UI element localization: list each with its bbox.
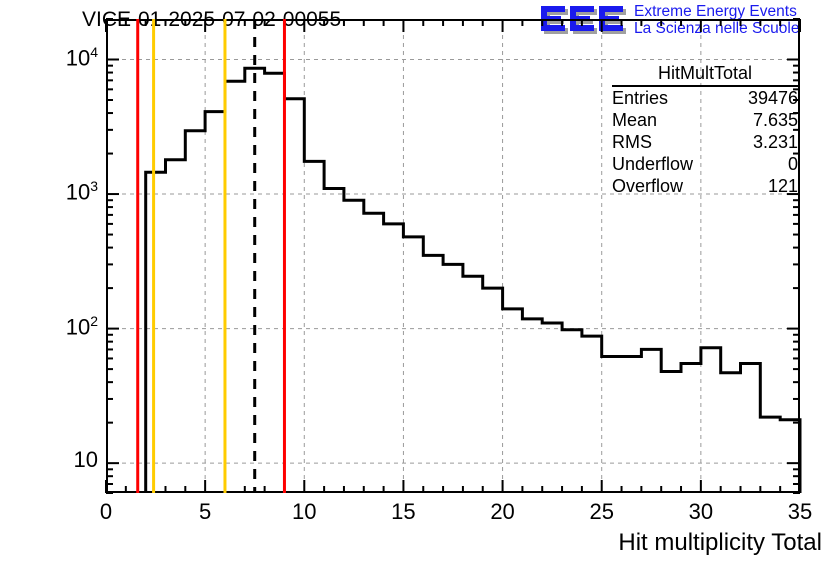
x-tick-label: 25 [589,499,613,525]
y-tick-label: 102 [66,313,98,340]
x-tick-label: 5 [199,499,211,525]
stats-row: RMS3.231 [612,131,798,153]
stats-row-value: 121 [768,175,798,197]
x-tick-label: 30 [689,499,713,525]
x-tick-label: 15 [391,499,415,525]
x-tick-label: 20 [490,499,514,525]
stats-row-value: 7.635 [753,109,798,131]
stats-row-key: Mean [612,109,657,131]
x-axis-title: Hit multiplicity Total [618,529,822,557]
stats-row-key: Entries [612,87,668,109]
x-tick-label: 35 [788,499,812,525]
y-tick-label: 104 [66,44,98,71]
stats-row: Mean7.635 [612,109,798,131]
stats-row: Entries39476 [612,87,798,109]
stats-row: Underflow0 [612,153,798,175]
eee-logo-line1: Extreme Energy Events [634,3,834,20]
stats-row: Overflow121 [612,175,798,197]
x-tick-label: 0 [100,499,112,525]
stats-row-key: RMS [612,131,652,153]
stats-box-rows: Entries39476Mean7.635RMS3.231Underflow0O… [612,87,798,197]
root-canvas: VICE-01-2025-07-02-00055 [0,0,836,572]
stats-row-key: Overflow [612,175,683,197]
stats-box: HitMultTotal Entries39476Mean7.635RMS3.2… [612,63,798,197]
y-tick-label: 10 [74,447,98,473]
stats-row-value: 0 [788,153,798,175]
stats-row-key: Underflow [612,153,693,175]
stats-box-title: HitMultTotal [612,63,798,87]
x-tick-label: 10 [292,499,316,525]
y-tick-label: 103 [66,178,98,205]
stats-row-value: 3.231 [753,131,798,153]
stats-row-value: 39476 [748,87,798,109]
